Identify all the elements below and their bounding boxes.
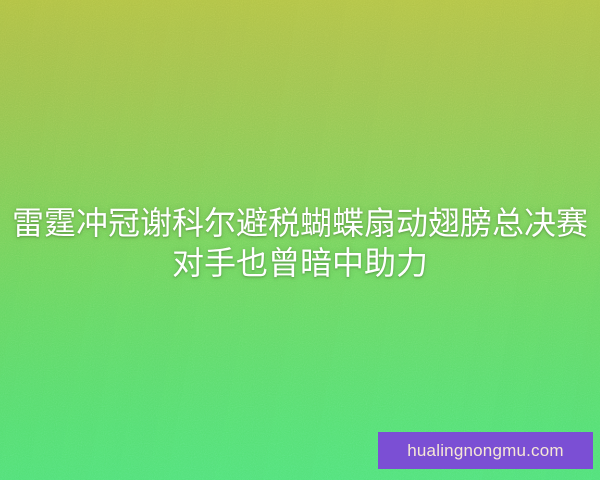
watermark-badge: hualingnongmu.com — [378, 432, 593, 469]
banner-image: 雷霆冲冠谢科尔避税蝴蝶扇动翅膀总决赛 对手也曾暗中助力 hualingnongm… — [0, 0, 600, 480]
background-sheen — [0, 0, 600, 480]
watermark-label: hualingnongmu.com — [407, 442, 564, 459]
